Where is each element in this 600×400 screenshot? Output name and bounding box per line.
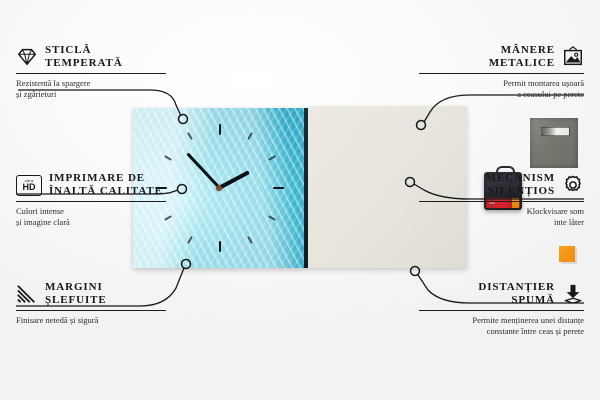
- hour-marker: [268, 155, 276, 160]
- callout-title: MARGINI ȘLEFUITE: [45, 281, 107, 307]
- hour-marker: [219, 241, 221, 252]
- product-image: AA: [133, 108, 467, 268]
- callout-silent-mechanism: MECANISM SILENȚIOS Klockvisare som inte …: [419, 172, 584, 227]
- clock-hour-hand: [218, 170, 250, 189]
- hour-marker: [219, 124, 221, 135]
- callout-subtitle: Permit montarea ușoară: [419, 78, 584, 89]
- arrow-down-pad-icon: [562, 283, 584, 305]
- callout-heading: MARGINI ȘLEFUITE: [16, 281, 166, 307]
- metal-hanger: [530, 118, 578, 168]
- hour-marker: [247, 236, 252, 244]
- callout-title: MÂNERE METALICE: [489, 44, 555, 70]
- clock-center-hub: [216, 185, 222, 191]
- foam-spacer: [559, 246, 575, 262]
- callout-divider: [16, 310, 166, 311]
- picture-hanger-icon: [562, 46, 584, 68]
- callout-title: MECANISM SILENȚIOS: [485, 172, 555, 198]
- callout-title: IMPRIMARE DE ÎNALTĂ CALITATE: [49, 172, 163, 198]
- hanger-slot: [540, 127, 570, 136]
- callout-subtitle: Permite menținerea unei distanțe: [419, 315, 584, 326]
- clock-dial: [155, 124, 283, 252]
- callout-metal-handles: MÂNERE METALICE Permit montarea ușoară a…: [419, 44, 584, 99]
- callout-subtitle: Rezistentă la spargere: [16, 78, 166, 89]
- callout-subtitle: și imagine clară: [16, 217, 166, 228]
- hour-marker: [164, 155, 172, 160]
- callout-heading: STICLĂ TEMPERATĂ: [16, 44, 166, 70]
- callout-title: STICLĂ TEMPERATĂ: [45, 44, 123, 70]
- callout-heading: ultra HD IMPRIMARE DE ÎNALTĂ CALITATE: [16, 172, 166, 198]
- hour-marker: [273, 187, 284, 189]
- callout-subtitle: Culori intense: [16, 206, 166, 217]
- callout-divider: [419, 310, 584, 311]
- callout-divider: [16, 201, 166, 202]
- callout-subtitle: constante între ceas și perete: [419, 326, 584, 337]
- clock-minute-hand: [186, 153, 220, 189]
- callout-polished-edges: MARGINI ȘLEFUITE Finisare netedă și sigu…: [16, 281, 166, 326]
- gear-icon: [562, 174, 584, 196]
- callout-tempered-glass: STICLĂ TEMPERATĂ Rezistentă la spargere …: [16, 44, 166, 99]
- callout-heading: MECANISM SILENȚIOS: [419, 172, 584, 198]
- callout-title: DISTANȚIER SPUMĂ: [478, 281, 555, 307]
- callout-heading: MÂNERE METALICE: [419, 44, 584, 70]
- callout-high-quality-print: ultra HD IMPRIMARE DE ÎNALTĂ CALITATE Cu…: [16, 172, 166, 227]
- callout-divider: [419, 73, 584, 74]
- infographic-stage: AA STICLĂ TEMPER: [0, 0, 600, 400]
- callout-subtitle: și zgârieturi: [16, 89, 166, 100]
- callout-foam-spacer: DISTANȚIER SPUMĂ Permite menținerea unei…: [419, 281, 584, 336]
- ultra-hd-icon-bottom: HD: [23, 183, 36, 192]
- diamond-icon: [16, 46, 38, 68]
- hour-marker: [268, 215, 276, 220]
- hour-marker: [247, 132, 252, 140]
- callout-subtitle: a ceasului pe perete: [419, 89, 584, 100]
- callout-divider: [16, 73, 166, 74]
- callout-divider: [419, 201, 584, 202]
- callout-heading: DISTANȚIER SPUMĂ: [419, 281, 584, 307]
- callout-subtitle: Klockvisare som: [419, 206, 584, 217]
- ultra-hd-icon: ultra HD: [16, 175, 42, 196]
- callout-subtitle: inte låter: [419, 217, 584, 228]
- hour-marker: [187, 236, 192, 244]
- callout-subtitle: Finisare netedă și sigură: [16, 315, 166, 326]
- bevel-stripes-icon: [16, 283, 38, 305]
- hour-marker: [187, 132, 192, 140]
